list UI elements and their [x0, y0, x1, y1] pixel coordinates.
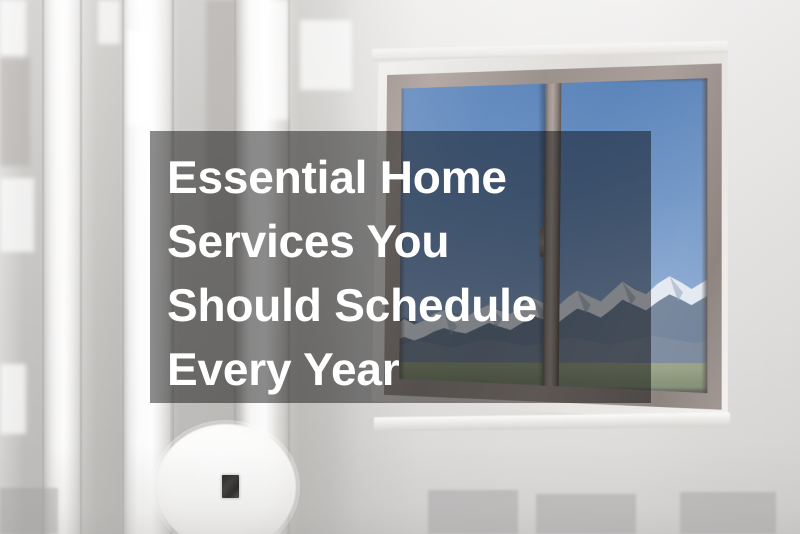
wall-blotch-6: [128, 30, 150, 126]
sash-edge-right: [701, 76, 707, 395]
wall-blotch-2: [0, 56, 30, 166]
floor-smudge-3: [536, 494, 636, 534]
wall-blotch-3: [0, 178, 34, 252]
wall-blotch-1: [0, 0, 26, 60]
headline-overlay: Essential Home Services You Should Sched…: [150, 131, 651, 403]
wall-blotch-8: [300, 20, 352, 90]
floor-smudge-2: [428, 490, 518, 534]
wall-blotch-7: [262, 0, 288, 120]
floor-smudge-4: [680, 492, 776, 534]
wall-blotch-4: [0, 364, 26, 434]
wall-blotch-5: [98, 0, 120, 44]
floor-smudge-1: [0, 488, 58, 534]
hero-image: Essential Home Services You Should Sched…: [0, 0, 800, 534]
page-title: Essential Home Services You Should Sched…: [167, 145, 651, 401]
